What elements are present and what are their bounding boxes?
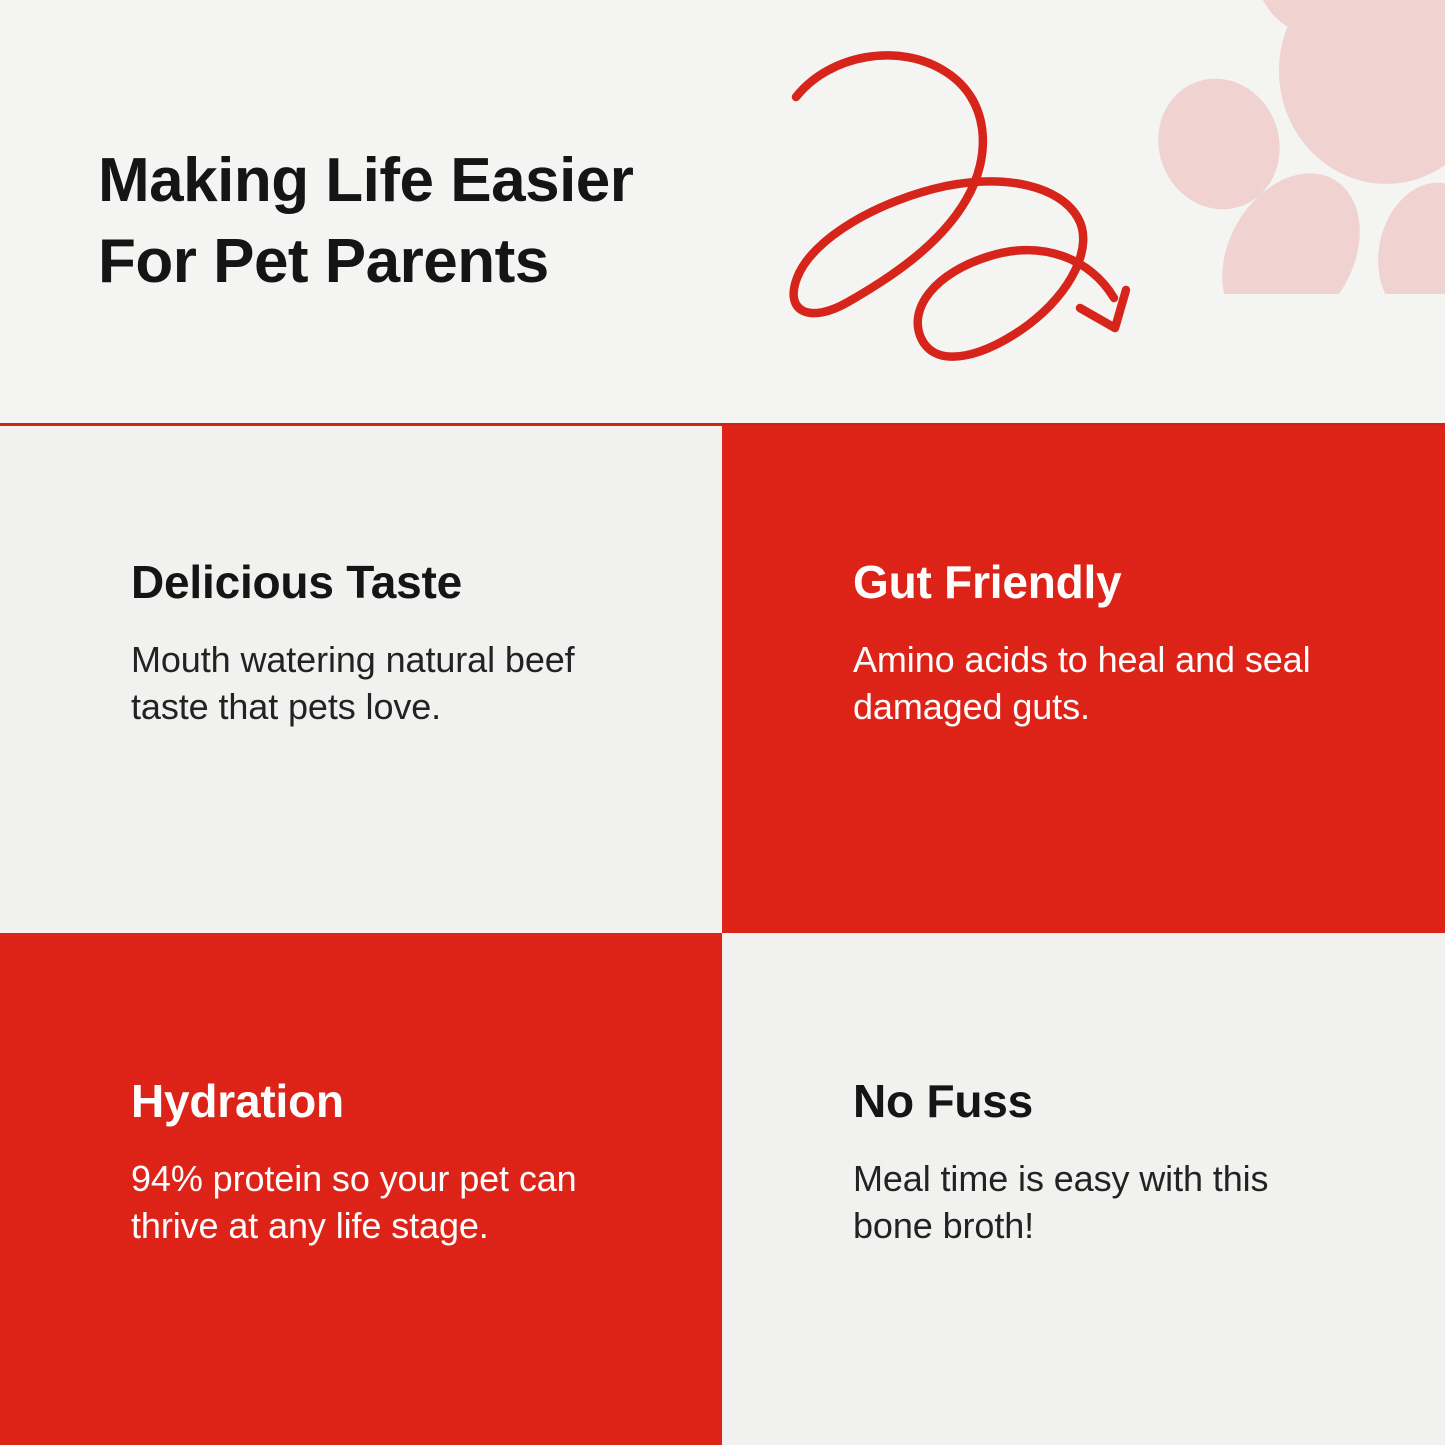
- infographic-canvas: Making Life Easier For Pet Parents Delic…: [0, 0, 1445, 1445]
- feature-card-delicious-taste: Delicious Taste Mouth watering natural b…: [0, 426, 722, 933]
- feature-title: No Fuss: [853, 1075, 1033, 1127]
- feature-title: Gut Friendly: [853, 556, 1122, 608]
- header-divider: [0, 423, 1445, 426]
- page-title: Making Life Easier For Pet Parents: [98, 140, 798, 302]
- feature-body: 94% protein so your pet can thrive at an…: [131, 1155, 601, 1249]
- feature-body: Meal time is easy with this bone broth!: [853, 1155, 1323, 1249]
- feature-title: Hydration: [131, 1075, 344, 1127]
- feature-card-no-fuss: No Fuss Meal time is easy with this bone…: [722, 933, 1445, 1445]
- paw-print-icon: [1123, 0, 1445, 294]
- feature-title: Delicious Taste: [131, 556, 462, 608]
- squiggle-arrow-icon: [770, 40, 1170, 385]
- feature-card-gut-friendly: Gut Friendly Amino acids to heal and sea…: [722, 426, 1445, 933]
- feature-card-hydration: Hydration 94% protein so your pet can th…: [0, 933, 722, 1445]
- feature-body: Amino acids to heal and seal damaged gut…: [853, 636, 1323, 730]
- feature-body: Mouth watering natural beef taste that p…: [131, 636, 601, 730]
- headline-line-1: Making Life Easier: [98, 146, 633, 215]
- headline-line-2: For Pet Parents: [98, 221, 798, 302]
- feature-grid: Delicious Taste Mouth watering natural b…: [0, 426, 1445, 1445]
